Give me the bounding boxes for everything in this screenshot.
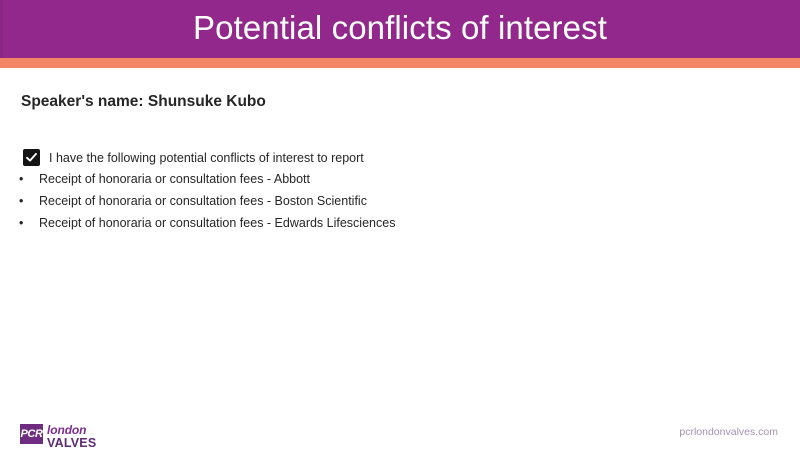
page-title: Potential conflicts of interest: [0, 0, 800, 58]
pcr-logo-text: PCR: [20, 429, 42, 440]
list-item-label: Receipt of honoraria or consultation fee…: [39, 172, 310, 186]
disclosure-list: • Receipt of honoraria or consultation f…: [18, 172, 618, 238]
logo-word-valves: VALVES: [47, 437, 96, 450]
speaker-name-label: Speaker's name: Shunsuke Kubo: [21, 93, 266, 111]
bullet-icon: •: [18, 172, 39, 186]
list-item: • Receipt of honoraria or consultation f…: [18, 172, 618, 194]
pcr-logo-mark: PCR: [20, 424, 43, 444]
list-item-label: Receipt of honoraria or consultation fee…: [39, 194, 367, 208]
bullet-icon: •: [18, 216, 39, 230]
logo-wordmark: london VALVES: [47, 424, 96, 450]
logo-word-london: london: [47, 424, 96, 436]
pcr-london-valves-logo: PCR london VALVES: [20, 424, 96, 450]
declaration-label: I have the following potential conflicts…: [49, 151, 364, 165]
checkbox-checked-icon[interactable]: [23, 149, 40, 166]
list-item: • Receipt of honoraria or consultation f…: [18, 216, 618, 238]
footer-website-url: pcrlondonvalves.com: [679, 426, 778, 438]
slide-canvas: Potential conflicts of interest Speaker'…: [0, 0, 800, 450]
bullet-icon: •: [18, 194, 39, 208]
list-item-label: Receipt of honoraria or consultation fee…: [39, 216, 395, 230]
list-item: • Receipt of honoraria or consultation f…: [18, 194, 618, 216]
accent-band: [0, 58, 800, 68]
declaration-row[interactable]: I have the following potential conflicts…: [23, 149, 364, 166]
